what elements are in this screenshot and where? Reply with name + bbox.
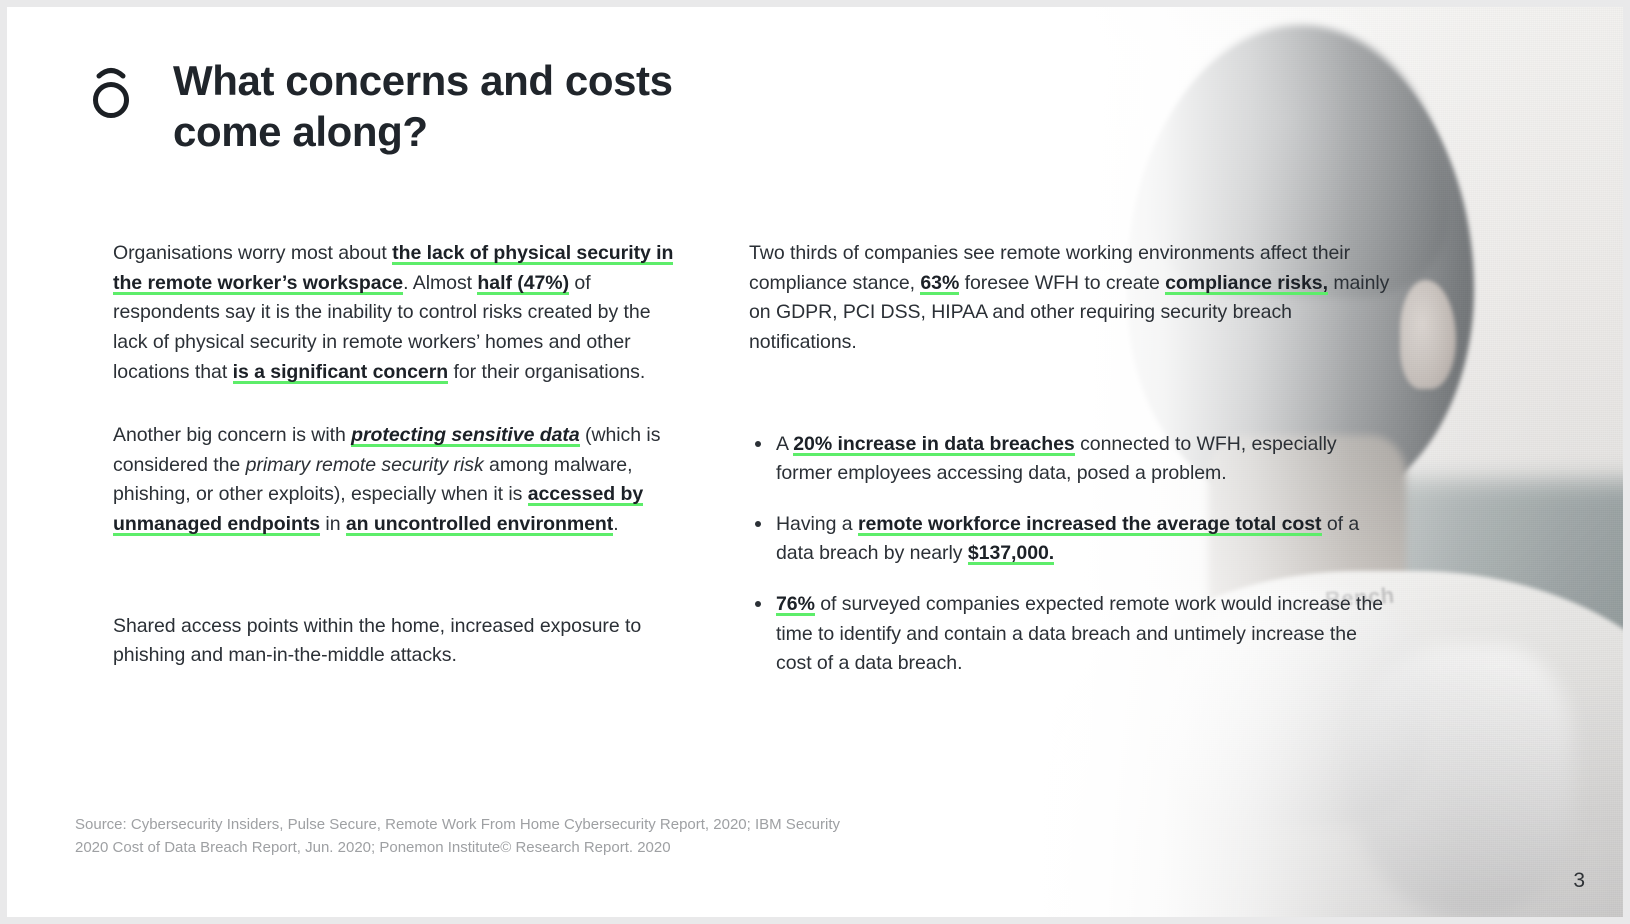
emphasis-run: $137,000. (968, 542, 1054, 565)
circle-circumflex-logo-icon (89, 61, 133, 119)
slide-header: What concerns and costs come along? (89, 55, 733, 157)
source-citation: Source: Cybersecurity Insiders, Pulse Se… (75, 814, 840, 859)
emphasis-run: an uncontrolled environment (346, 513, 613, 536)
left-paragraph-3: Shared access points within the home, in… (113, 612, 683, 671)
right-bullet-list: A 20% increase in data breaches connecte… (749, 430, 1397, 679)
right-paragraph-1: Two thirds of companies see remote worki… (749, 239, 1397, 358)
emphasis-run: primary remote security risk (246, 454, 484, 476)
emphasis-run: remote workforce increased the average t… (858, 513, 1322, 536)
emphasis-run: protecting sensitive data (351, 424, 579, 447)
list-item: Having a remote workforce increased the … (749, 510, 1397, 569)
list-item: 76% of surveyed companies expected remot… (749, 590, 1397, 679)
right-column: Two thirds of companies see remote worki… (707, 239, 1407, 679)
emphasis-run: is a significant concern (233, 361, 449, 384)
emphasis-run: the lack of physical security in the rem… (113, 242, 673, 295)
list-item: A 20% increase in data breaches connecte… (749, 430, 1397, 489)
left-column: Organisations worry most about the lack … (7, 239, 707, 679)
emphasis-run: 76% (776, 593, 815, 616)
page-title: What concerns and costs come along? (173, 55, 733, 157)
left-paragraph-2: Another big concern is with protecting s… (113, 421, 683, 540)
right-column-spacer (749, 392, 1397, 430)
source-line-1: Source: Cybersecurity Insiders, Pulse Se… (75, 814, 840, 837)
presentation-slide: Bench What concerns and costs come along… (0, 0, 1630, 924)
source-line-2: 2020 Cost of Data Breach Report, Jun. 20… (75, 837, 840, 860)
emphasis-run: compliance risks, (1165, 272, 1328, 295)
slide-canvas: Bench What concerns and costs come along… (7, 7, 1623, 917)
page-number: 3 (1573, 869, 1585, 893)
emphasis-run: half (47%) (477, 272, 569, 295)
body-columns: Organisations worry most about the lack … (7, 239, 1623, 679)
slide-content: What concerns and costs come along? Orga… (7, 7, 1623, 917)
emphasis-run: 63% (920, 272, 959, 295)
left-paragraph-1: Organisations worry most about the lack … (113, 239, 683, 387)
emphasis-run: 20% increase in data breaches (793, 433, 1074, 456)
left-column-spacer (113, 574, 683, 612)
